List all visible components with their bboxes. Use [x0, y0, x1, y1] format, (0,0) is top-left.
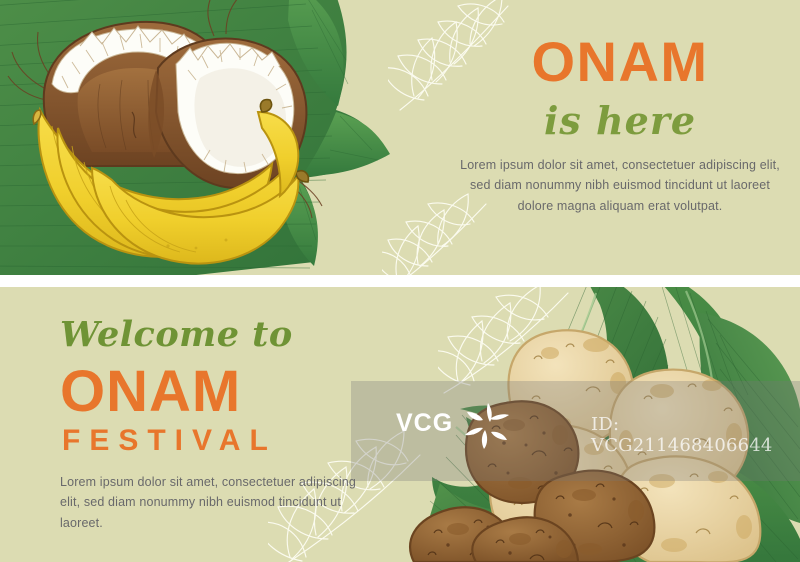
- coconut-and-bananas-artwork: [0, 0, 440, 275]
- bottom-banner-script-line: Welcome to: [60, 317, 293, 352]
- banner-divider: [0, 275, 800, 287]
- bottom-banner-subtitle: FESTIVAL: [62, 426, 277, 456]
- bottom-banner-body-text: Lorem ipsum dolor sit amet, consectetuer…: [60, 472, 360, 533]
- bottom-banner-title: ONAM: [60, 363, 241, 421]
- onam-is-here-banner: ONAM is here Lorem ipsum dolor sit amet,…: [0, 0, 800, 275]
- banner-set-canvas: ONAM is here Lorem ipsum dolor sit amet,…: [0, 0, 800, 562]
- top-banner-title: ONAM: [440, 34, 800, 90]
- top-banner-subtitle: is here: [440, 100, 800, 142]
- appam-and-papadum-artwork: [400, 287, 800, 562]
- bottom-banner-text-block: Welcome to ONAM FESTIVAL Lorem ipsum dol…: [60, 287, 390, 562]
- top-banner-text-block: ONAM is here Lorem ipsum dolor sit amet,…: [440, 0, 800, 275]
- welcome-to-onam-festival-banner: Welcome to ONAM FESTIVAL Lorem ipsum dol…: [0, 287, 800, 562]
- top-banner-body-text: Lorem ipsum dolor sit amet, consectetuer…: [460, 155, 780, 216]
